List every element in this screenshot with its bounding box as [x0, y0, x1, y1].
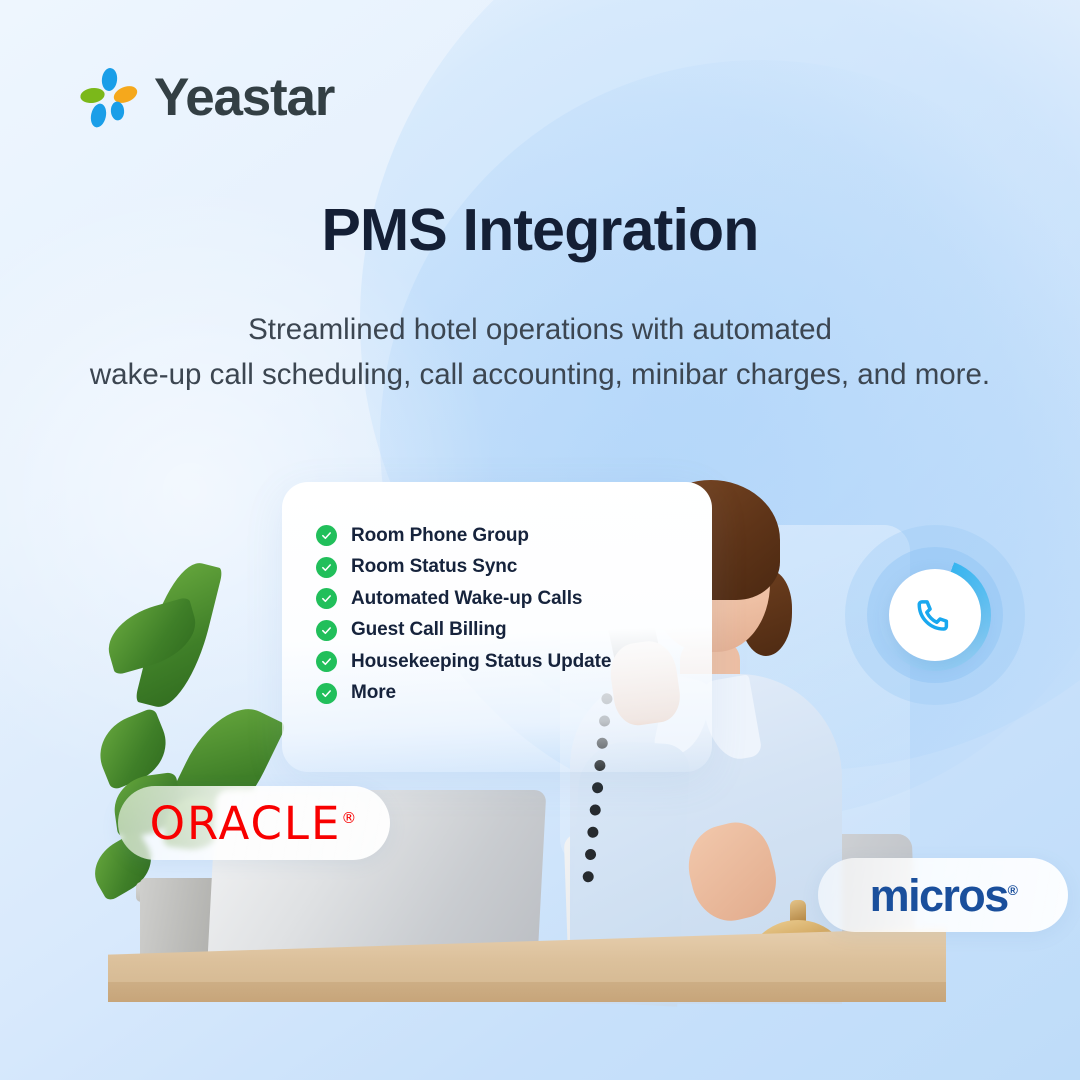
list-item[interactable]: Housekeeping Status Update: [316, 646, 611, 678]
page-subtitle: Streamlined hotel operations with automa…: [0, 308, 1080, 398]
list-item[interactable]: Room Status Sync: [316, 552, 611, 584]
scene-illustration: Room Phone Group Room Status Sync Automa…: [0, 430, 1080, 1080]
micros-badge[interactable]: micros®: [818, 858, 1068, 932]
desk-edge: [108, 982, 946, 1002]
list-item[interactable]: More: [316, 678, 611, 710]
check-circle-icon: [316, 620, 337, 641]
feature-label: Room Phone Group: [351, 525, 529, 547]
feature-label: Guest Call Billing: [351, 619, 507, 641]
oracle-wordmark: ORACLE®: [150, 801, 359, 846]
oracle-badge[interactable]: ORACLE®: [118, 786, 390, 860]
micros-wordmark: micros®: [870, 873, 1017, 918]
feature-label: Room Status Sync: [351, 556, 517, 578]
list-item[interactable]: Automated Wake-up Calls: [316, 583, 611, 615]
yeastar-flower-mark-icon: [78, 66, 140, 128]
check-circle-icon: [316, 588, 337, 609]
check-circle-icon: [316, 557, 337, 578]
feature-label: Automated Wake-up Calls: [351, 588, 582, 610]
subtitle-line-2: wake-up call scheduling, call accounting…: [0, 353, 1080, 398]
check-circle-icon: [316, 525, 337, 546]
feature-card: Room Phone Group Room Status Sync Automa…: [282, 482, 712, 772]
feature-list: Room Phone Group Room Status Sync Automa…: [316, 520, 611, 709]
list-item[interactable]: Room Phone Group: [316, 520, 611, 552]
yeastar-wordmark: Yeastar: [154, 71, 334, 124]
feature-label: Housekeeping Status Update: [351, 651, 611, 673]
phone-badge[interactable]: [845, 525, 1025, 705]
feature-label: More: [351, 682, 396, 704]
check-circle-icon: [316, 651, 337, 672]
page-title: PMS Integration: [0, 196, 1080, 264]
subtitle-line-1: Streamlined hotel operations with automa…: [0, 308, 1080, 353]
check-circle-icon: [316, 683, 337, 704]
micros-trademark-icon: ®: [1008, 882, 1017, 898]
yeastar-logo[interactable]: Yeastar: [78, 64, 334, 130]
list-item[interactable]: Guest Call Billing: [316, 615, 611, 647]
poster-canvas: Yeastar PMS Integration Streamlined hote…: [0, 0, 1080, 1080]
phone-handset-icon: [914, 594, 956, 636]
phone-icon-circle[interactable]: [889, 569, 981, 661]
oracle-trademark-icon: ®: [341, 809, 358, 827]
